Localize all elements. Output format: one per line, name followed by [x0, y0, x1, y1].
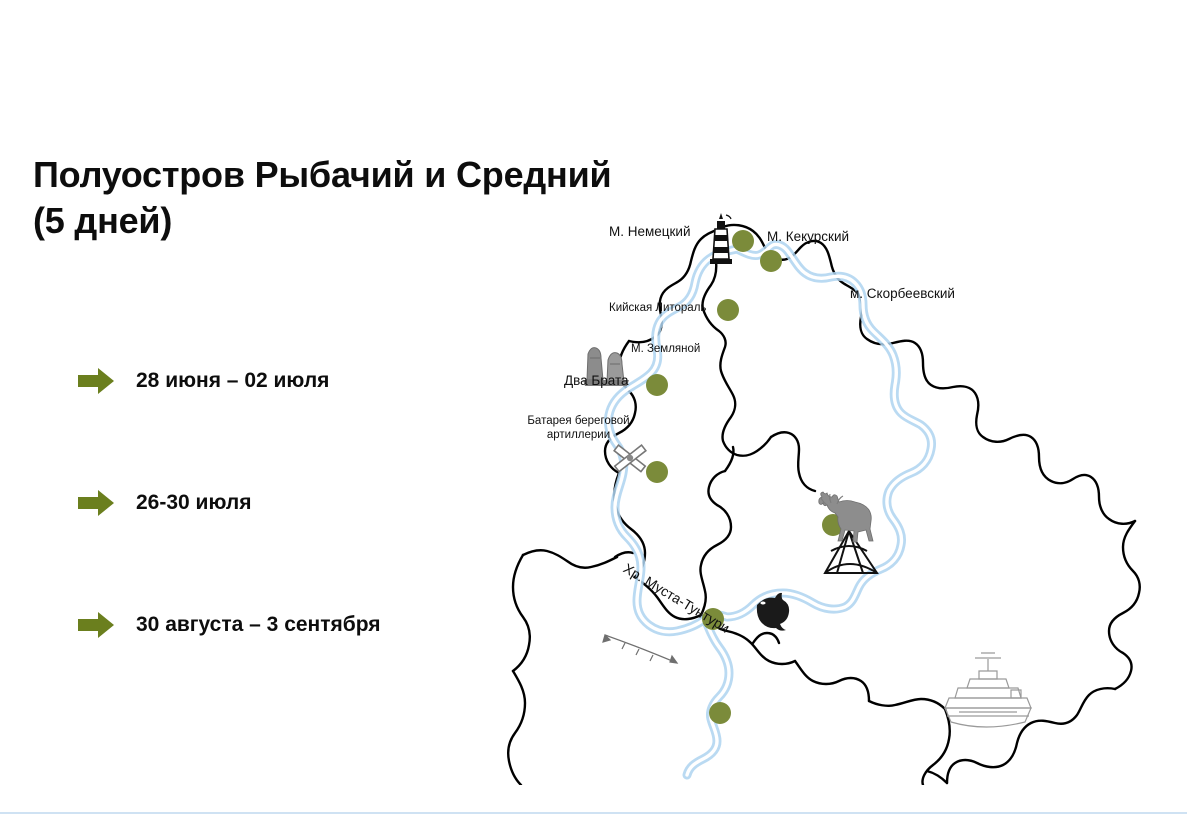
route-map: М. Немецкий М. Кекурский м. Скорбеевский… — [505, 205, 1145, 785]
map-graphic — [505, 205, 1145, 785]
map-label-batareya: Батарея береговой артиллерии — [521, 414, 636, 442]
waypoint-dot[interactable] — [760, 250, 782, 272]
waypoint-dot[interactable] — [646, 461, 668, 483]
ridge-icon — [603, 635, 677, 663]
title-line-1: Полуостров Рыбачий и Средний — [33, 152, 673, 198]
bottom-accent-rule — [0, 812, 1187, 814]
arrow-right-icon — [78, 490, 114, 516]
map-label-m-nemetsky: М. Немецкий — [609, 224, 691, 240]
departure-list: 28 июня – 02 июля 26-30 июля 30 августа … — [78, 360, 498, 646]
waypoint-dot[interactable] — [709, 702, 731, 724]
departure-label: 30 августа – 3 сентября — [136, 613, 381, 637]
arrow-right-icon — [78, 612, 114, 638]
waypoint-dot[interactable] — [732, 230, 754, 252]
list-item[interactable]: 28 июня – 02 июля — [78, 360, 498, 402]
arrow-right-icon — [78, 368, 114, 394]
map-label-dva-brata: Два Брата — [564, 373, 629, 389]
slide-canvas: Полуостров Рыбачий и Средний (5 дней) 28… — [0, 0, 1187, 819]
departure-label: 26-30 июля — [136, 491, 251, 515]
route-core — [608, 244, 931, 775]
ship-icon — [945, 653, 1031, 727]
waypoint-dot[interactable] — [717, 299, 739, 321]
list-item[interactable]: 26-30 июля — [78, 482, 498, 524]
waypoint-dot[interactable] — [646, 374, 668, 396]
departure-label: 28 июня – 02 июля — [136, 369, 329, 393]
lighthouse-icon — [710, 213, 732, 264]
map-label-m-kekursky: М. Кекурский — [767, 229, 849, 245]
list-item[interactable]: 30 августа – 3 сентября — [78, 604, 498, 646]
map-label-kiyskaya-litoral: Кийская Литораль — [609, 301, 706, 315]
map-label-m-skorbeevsky: м. Скорбеевский — [850, 286, 955, 302]
map-label-m-zemlyanoy: М. Земляной — [631, 342, 700, 356]
